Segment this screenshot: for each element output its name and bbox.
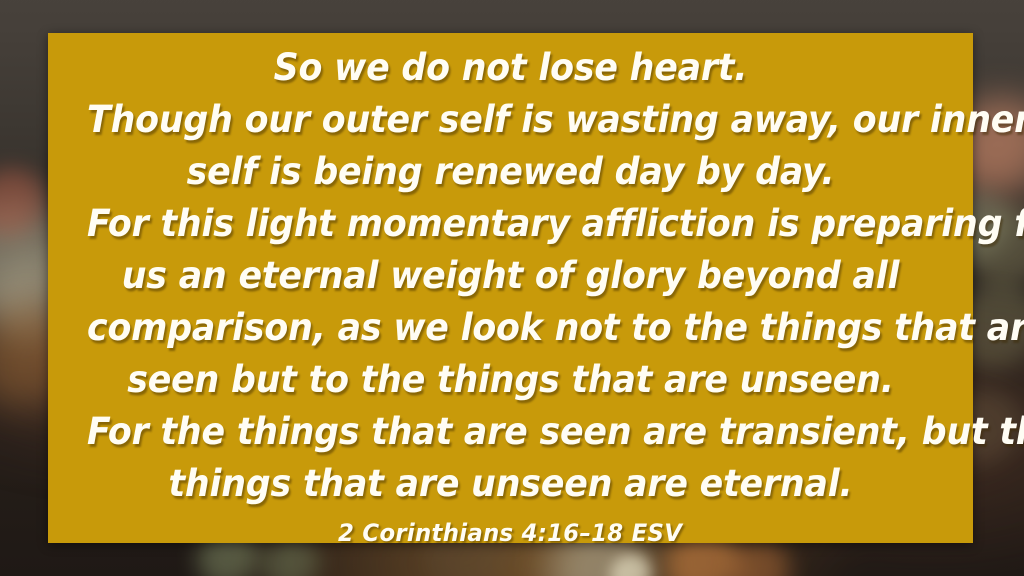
verse-line: seen but to the things that are unseen.	[87, 354, 934, 406]
verse-line: comparison, as we look not to the things…	[87, 302, 934, 354]
verse-line: So we do not lose heart.	[87, 42, 934, 94]
verse-line: us an eternal weight of glory beyond all	[87, 250, 934, 302]
slide-canvas: So we do not lose heart.Though our outer…	[0, 0, 1024, 576]
verse-attribution: 2 Corinthians 4:16–18 ESV	[338, 518, 682, 548]
quote-panel: So we do not lose heart.Though our outer…	[48, 33, 973, 543]
verse-text: So we do not lose heart.Though our outer…	[76, 42, 946, 510]
verse-line: self is being renewed day by day.	[87, 146, 934, 198]
verse-line: For the things that are seen are transie…	[87, 406, 934, 458]
verse-line: For this light momentary affliction is p…	[87, 198, 934, 250]
verse-line: Though our outer self is wasting away, o…	[87, 94, 934, 146]
verse-line: things that are unseen are eternal.	[87, 458, 934, 510]
